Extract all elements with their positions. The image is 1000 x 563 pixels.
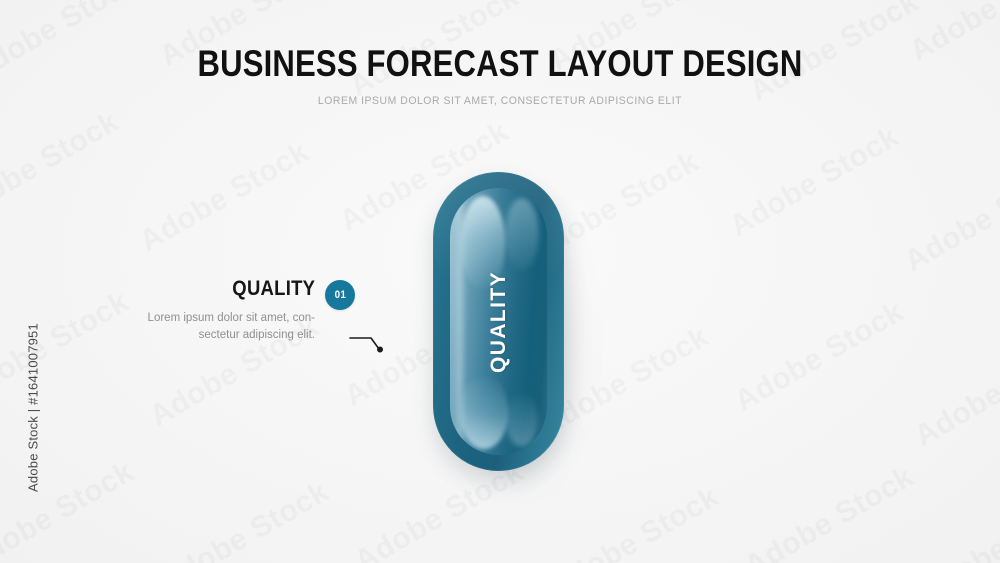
page-subtitle: LOREM IPSUM DOLOR SIT AMET, CONSECTETUR …	[25, 95, 975, 107]
connector-line	[345, 328, 393, 358]
watermark-tile: Adobe Stock	[729, 295, 910, 419]
capsule-gloss-bottom-left	[460, 377, 508, 449]
info-block-quality: QUALITY Lorem ipsum dolor sit amet, con-…	[140, 278, 315, 344]
watermark-tile: Adobe Stock	[899, 155, 1000, 279]
watermark-tile: Adobe Stock	[0, 105, 125, 229]
info-heading: QUALITY	[232, 278, 315, 300]
step-number-label: 01	[334, 289, 346, 301]
slide-canvas: Adobe Stock Adobe Stock Adobe Stock Adob…	[0, 0, 1000, 563]
stock-credit-watermark: Adobe Stock | #1641007951	[26, 273, 41, 543]
watermark-tile: Adobe Stock	[909, 330, 1000, 454]
watermark-tile: Adobe Stock	[154, 475, 335, 563]
capsule-gloss-bottom-right	[506, 393, 538, 447]
step-number-badge[interactable]: 01	[325, 280, 355, 310]
header: BUSINESS FORECAST LAYOUT DESIGN LOREM IP…	[0, 44, 1000, 107]
watermark-tile: Adobe Stock	[739, 460, 920, 563]
connector-endpoint-dot	[377, 347, 383, 353]
capsule-gloss-top-right	[505, 198, 539, 270]
watermark-tile: Adobe Stock	[544, 480, 725, 563]
connector-path	[350, 338, 379, 349]
watermark-tile: Adobe Stock	[0, 285, 135, 409]
page-title: BUSINESS FORECAST LAYOUT DESIGN	[80, 44, 920, 84]
watermark-tile: Adobe Stock	[134, 135, 315, 259]
info-heading-row: QUALITY	[140, 278, 315, 300]
watermark-tile: Adobe Stock	[914, 485, 1000, 563]
watermark-tile: Adobe Stock	[0, 455, 140, 563]
capsule-shape-quality[interactable]: QUALITY	[433, 172, 564, 471]
capsule-gloss-top-left	[461, 196, 505, 288]
watermark-tile: Adobe Stock	[724, 120, 905, 244]
capsule-inner-body	[450, 188, 547, 455]
info-body-text: Lorem ipsum dolor sit amet, con-sectetur…	[140, 310, 315, 344]
